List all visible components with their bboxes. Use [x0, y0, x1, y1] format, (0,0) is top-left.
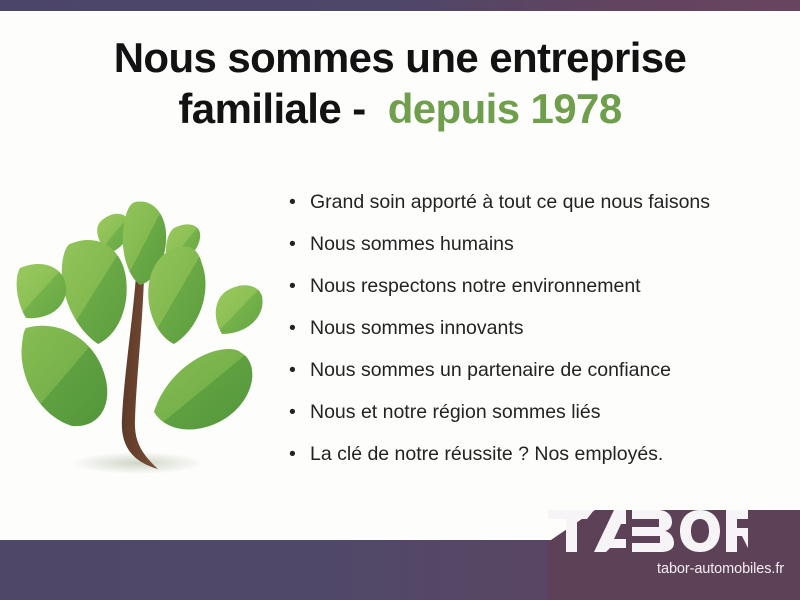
list-item: • Nous sommes innovants	[286, 317, 786, 340]
list-item-label: Grand soin apporté à tout ce que nous fa…	[310, 191, 710, 213]
title-accent-depuis: depuis 1978	[388, 85, 622, 132]
page-title: Nous sommes une entreprise familiale - d…	[0, 34, 800, 132]
list-item-label: Nous sommes humains	[310, 233, 514, 255]
list-item: • Nous et notre région sommes liés	[286, 401, 786, 424]
list-item-label: Nous et notre région sommes liés	[310, 401, 600, 423]
bullet-marker-icon: •	[289, 317, 296, 340]
title-line-2-prefix: familiale	[178, 85, 341, 132]
list-item-label: Nous respectons notre environnement	[310, 275, 641, 297]
brand-logo-panel: tabor-automobiles.fr	[548, 510, 800, 600]
title-line-2: familiale - depuis 1978	[0, 85, 800, 132]
bullet-marker-icon: •	[289, 359, 296, 382]
bullet-marker-icon: •	[289, 275, 296, 298]
bullet-marker-icon: •	[289, 443, 296, 466]
list-item-label: Nous sommes innovants	[310, 317, 524, 339]
list-item-label: La clé de notre réussite ? Nos employés.	[310, 443, 663, 465]
list-item: • Nous sommes humains	[286, 233, 786, 256]
title-dash: -	[352, 85, 365, 132]
tree-illustration	[16, 186, 268, 486]
list-item-label: Nous sommes un partenaire de confiance	[310, 359, 671, 381]
list-item: • Nous respectons notre environnement	[286, 275, 786, 298]
list-item: • La clé de notre réussite ? Nos employé…	[286, 443, 786, 466]
bullet-marker-icon: •	[289, 401, 296, 424]
top-accent-band	[0, 0, 800, 11]
bullet-marker-icon: •	[289, 191, 296, 214]
tabor-wordmark-logo	[548, 510, 748, 552]
slide-canvas: Nous sommes une entreprise familiale - d…	[0, 0, 800, 600]
value-proposition-list: • Grand soin apporté à tout ce que nous …	[286, 191, 786, 466]
logo-tagline: tabor-automobiles.fr	[657, 561, 784, 577]
bullet-marker-icon: •	[289, 233, 296, 256]
list-item: • Grand soin apporté à tout ce que nous …	[286, 191, 786, 214]
list-item: • Nous sommes un partenaire de confiance	[286, 359, 786, 382]
title-line-1: Nous sommes une entreprise	[0, 34, 800, 81]
